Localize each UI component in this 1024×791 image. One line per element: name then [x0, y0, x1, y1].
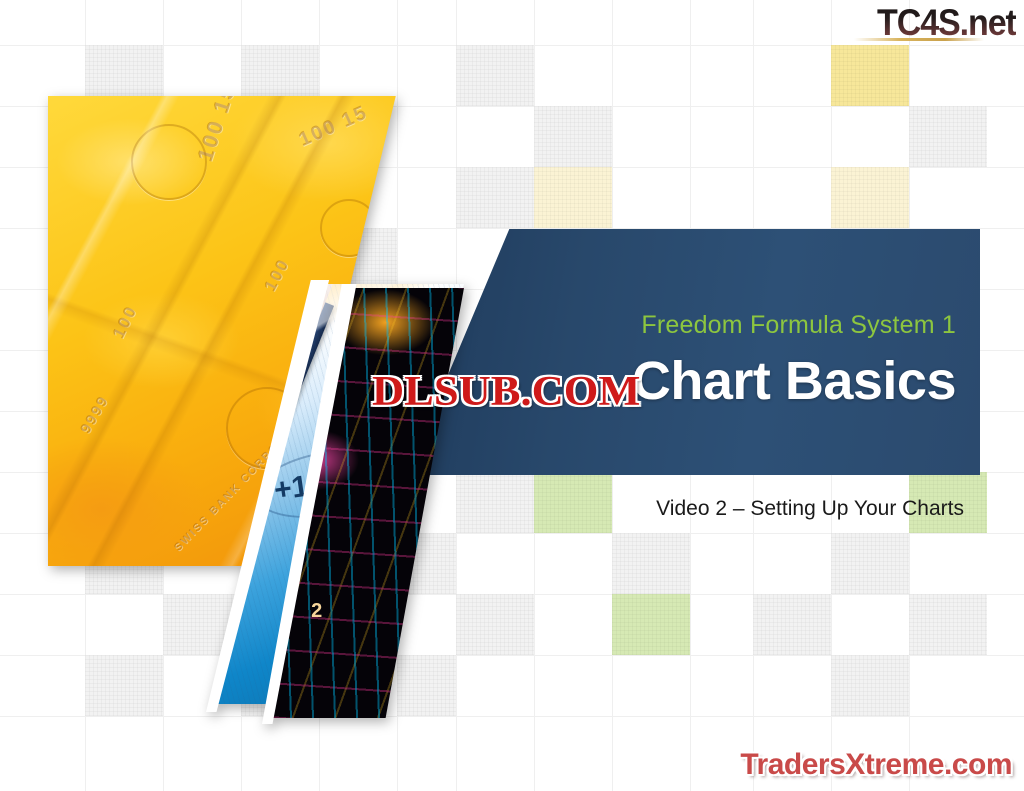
photo-collage: 100 15 100 15 100 100 9999 SWISS BANK CO…	[30, 88, 430, 720]
video-subtitle: Video 2 – Setting Up Your Charts	[656, 497, 964, 521]
tradersxtreme-logo[interactable]: TradersXtreme.com	[740, 748, 1012, 782]
gold-emboss-text: 100 15	[192, 96, 241, 165]
gold-seal-ring	[320, 199, 378, 257]
dlsub-watermark: DLSUB.COM	[372, 368, 640, 416]
gold-emboss-text: 100 15	[296, 101, 372, 152]
grid-cell	[909, 594, 987, 655]
grid-cell-green	[612, 594, 690, 655]
gold-emboss-text: 9999	[77, 393, 112, 437]
page-title: Chart Basics	[632, 350, 956, 412]
grid-cell	[612, 533, 690, 594]
gold-emboss-text: 100	[260, 255, 294, 295]
grid-cell-cream	[534, 167, 612, 228]
grid-cell	[456, 45, 534, 106]
tc4s-logo-underline	[854, 38, 984, 41]
grid-cell	[831, 655, 909, 716]
gold-seal-ring	[131, 124, 207, 200]
grid-cell-gold	[831, 45, 909, 106]
grid-cell	[456, 472, 534, 533]
grid-cell-green	[534, 472, 612, 533]
grid-cell	[456, 594, 534, 655]
grid-cell-cream	[831, 167, 909, 228]
gold-emboss-text: 100	[109, 302, 142, 342]
grid-cell	[456, 167, 534, 228]
grid-cell	[534, 106, 612, 167]
chart-axis-label: 2	[311, 600, 322, 623]
eyebrow-text: Freedom Formula System 1	[641, 311, 956, 340]
grid-cell	[753, 594, 831, 655]
slide-canvas: 100 15 100 15 100 100 9999 SWISS BANK CO…	[0, 0, 1024, 791]
grid-cell	[909, 106, 987, 167]
grid-cell	[831, 533, 909, 594]
